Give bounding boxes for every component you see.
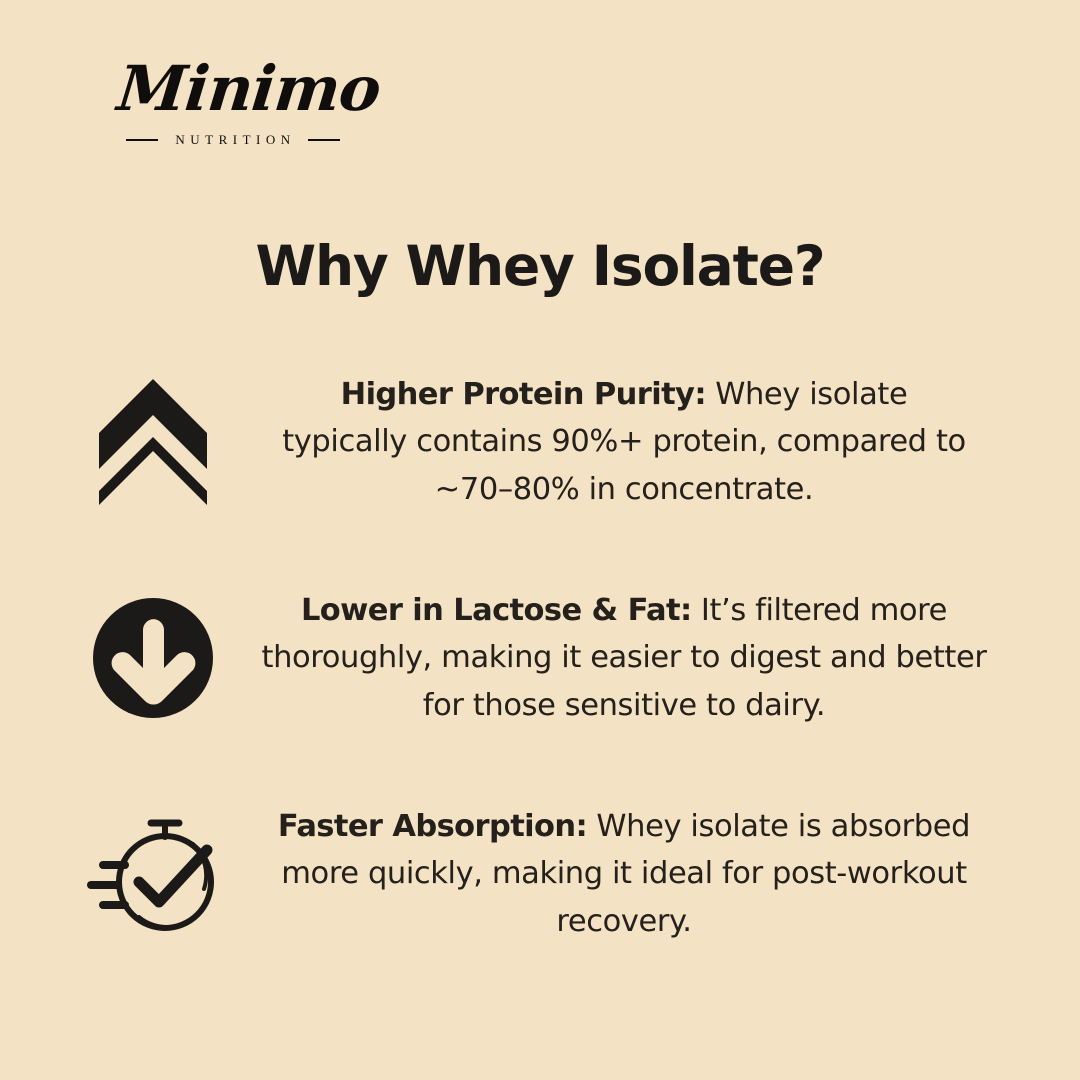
- benefit-text: Higher Protein Purity: Whey isolate typi…: [260, 371, 988, 513]
- rule-left-icon: [126, 139, 158, 141]
- benefit-item: Faster Absorption: Whey isolate is absor…: [0, 784, 1080, 964]
- benefit-lead: Lower in Lactose & Fat:: [301, 593, 692, 628]
- page-title: Why Whey Isolate?: [0, 236, 1080, 297]
- brand-tagline: NUTRITION: [170, 132, 295, 148]
- benefit-text: Lower in Lactose & Fat: It’s filtered mo…: [238, 587, 1011, 729]
- poster-canvas: Minimo NUTRITION Why Whey Isolate? Highe…: [0, 0, 1080, 1080]
- benefit-lead: Faster Absorption:: [278, 809, 587, 844]
- brand-logo: Minimo NUTRITION: [118, 58, 348, 148]
- stopwatch-check-speed-icon: [78, 804, 228, 944]
- brand-tagline-row: NUTRITION: [118, 132, 348, 148]
- circle-arrow-down-icon: [78, 588, 228, 728]
- benefit-list: Higher Protein Purity: Whey isolate typi…: [0, 352, 1080, 964]
- rule-right-icon: [308, 139, 340, 141]
- double-chevron-up-icon: [78, 372, 228, 512]
- benefit-item: Lower in Lactose & Fat: It’s filtered mo…: [0, 568, 1080, 748]
- benefit-item: Higher Protein Purity: Whey isolate typi…: [0, 352, 1080, 532]
- benefit-lead: Higher Protein Purity:: [341, 377, 706, 412]
- brand-wordmark: Minimo: [115, 58, 352, 120]
- benefit-text: Faster Absorption: Whey isolate is absor…: [260, 803, 988, 945]
